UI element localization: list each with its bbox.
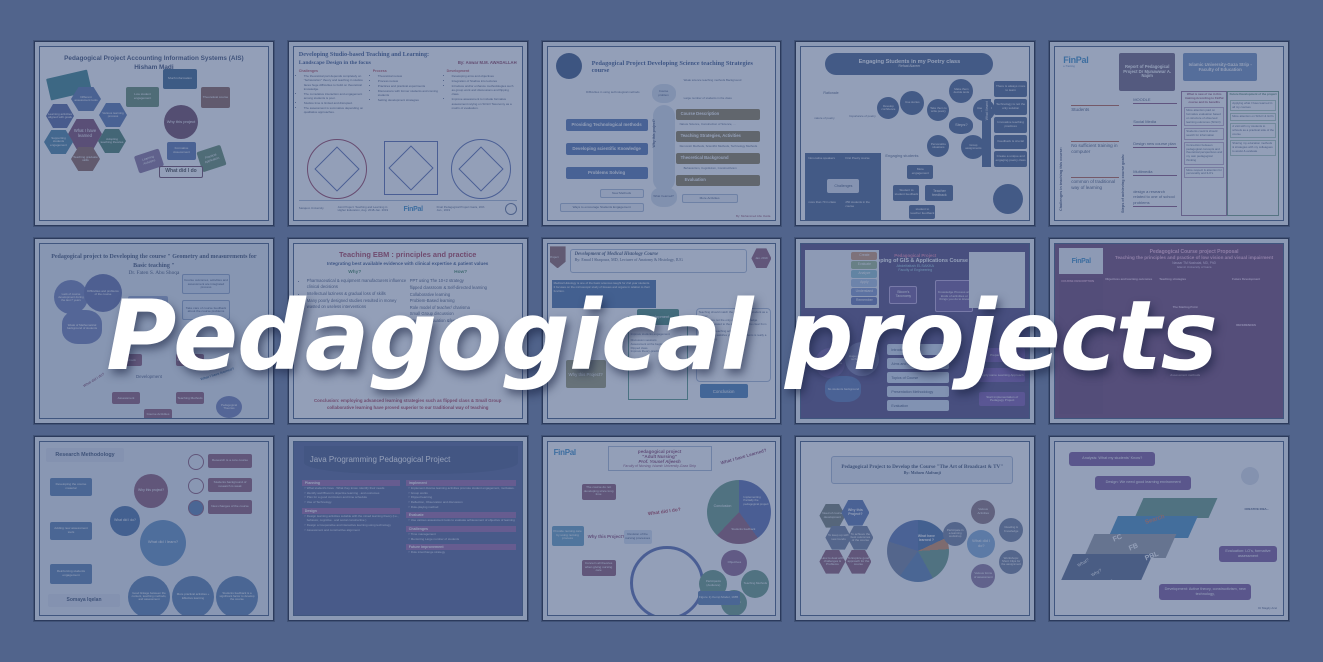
node-center: Why this project: [164, 105, 198, 139]
poster-title: Java Programming Pedagogical Project: [304, 455, 451, 464]
taxonomy-level: Evaluate: [851, 261, 877, 269]
column-item: More attention paid on formative evaluat…: [1184, 107, 1224, 126]
section-heading: Future Development: [1213, 278, 1279, 282]
list-item: Reflection, Observation and discussion: [411, 500, 516, 504]
label-engaging-students: Engaging students: [885, 153, 918, 158]
label-what-i-learned: What I have Learned?: [720, 447, 767, 466]
stack-base: [1061, 554, 1153, 580]
column-strategies: Teaching strategies The Starting Point S…: [1159, 278, 1211, 413]
section-heading: The Starting Point: [1159, 306, 1211, 310]
poster-subtitle: Landscape Design in the focus: [299, 60, 371, 66]
list-item: Discussions with former students and com…: [378, 89, 443, 98]
bubble-more-engagement: More engagement: [907, 165, 933, 179]
poster-author: By: Anwar M.M. AWADALLAH: [458, 60, 517, 65]
section-course-description: Course Description: [676, 109, 760, 120]
taxonomy-label: Bloom's Taxonomy: [889, 286, 917, 304]
why-node-1: The course do not developing since long …: [582, 484, 616, 500]
poster-affiliation: Islamic University of Gaza: [1109, 265, 1279, 269]
poster-thumbnail-ebm[interactable]: Teaching EBM : principles and practice I…: [288, 238, 528, 423]
node-assessment: Assessment: [112, 392, 140, 404]
outcome-good-linkage: Good linkage between the content, teachi…: [128, 576, 170, 616]
label-what-i-learned: What I have learned?: [200, 367, 235, 382]
note-2: Technology is not the only solution: [994, 99, 1027, 115]
bubble-make-them-decide: Make them decide texts: [949, 79, 973, 103]
how-point: Pre/post evaluation &feedback: [410, 318, 514, 324]
left-item: common of traditional way of learning: [1071, 177, 1119, 191]
poster-affiliation: Faculty of Nursing, Islamic University-G…: [611, 464, 709, 468]
section-detail: Nature Science, Construction of Science,…: [680, 123, 736, 127]
outcome-practical-activities: More practical activities + Effective le…: [172, 576, 214, 616]
outcome-students-feedback: Students feedback is a significant facto…: [216, 576, 258, 616]
hex-why-this-project: Why this Project?: [841, 500, 869, 526]
list-item-topics: Topics of Course: [887, 372, 949, 383]
poster-thumbnail-adult-nursing[interactable]: FinPal pedagogical project "Adult Nursin…: [542, 436, 782, 621]
gear-why-this-project: Why this project?: [134, 474, 168, 508]
node-pedagogical-theories: Pedagogical Theories: [216, 396, 242, 418]
node-tech-methods: Providing Technological methods: [566, 119, 648, 131]
label-what-did-i-do: What did I do?: [647, 507, 681, 518]
venn-objectives: Objectives: [721, 550, 747, 576]
figure-caption: Figure 1) Kemp Model, 1985: [698, 591, 740, 605]
block-label-obj: Obj.: [1118, 588, 1128, 597]
node-why-this-project: Why this Project?: [566, 360, 606, 388]
pie-no-background: No students background: [825, 376, 861, 402]
list-item: Developing aims and objectives: [452, 74, 517, 78]
footer-university: Sarajevo University: [299, 207, 324, 211]
section-evaluation: Evaluation: [676, 175, 760, 186]
poster-author: By: Emad I Shaqoura, MD, Lecturer of Ana…: [575, 257, 743, 262]
label-what-did-i-do: What did I do?: [83, 372, 106, 389]
list-item: Introduce and/or enhance methodologies s…: [452, 84, 517, 97]
poster-author: By: Mohsen Alafranji: [904, 470, 941, 475]
list-item: Practices and practical experiments: [378, 84, 443, 88]
poster-thumbnail-finpal-najim[interactable]: FinPal e-Training Report of Pedagogical …: [1049, 41, 1289, 226]
poster-title: Pedagogical Project Accounting Informati…: [46, 55, 262, 64]
list-item: Group works: [411, 491, 516, 495]
challenges-label: Challenges: [827, 179, 859, 193]
spine-label-why: Why this project?: [652, 119, 676, 147]
what-i-learnt-spine: What I learnt: [982, 99, 991, 167]
why-heading: Why?: [302, 270, 408, 275]
poster-subtitle: Integrating best available evidence with…: [302, 261, 514, 266]
column-challenges: Challenges The theoretical part depends …: [299, 69, 369, 115]
node-problem-solving: Problems Solving: [566, 167, 648, 179]
how-heading: How?: [408, 270, 514, 275]
footer-project: Joint Project: Teaching and Learning in …: [338, 206, 390, 214]
corner-label: Project: [550, 256, 559, 260]
node-feedback-care: Take care of course feedback about the c…: [182, 300, 230, 320]
conclusion: Conclusion: employing advanced learning …: [302, 398, 514, 411]
pie-label-feedback: Students feedback: [731, 528, 755, 532]
node-what-did-i-do: What did I do: [159, 166, 203, 178]
development-box: Development Improve students engagement …: [628, 316, 688, 400]
bubble-student-student: Student to student feedback: [893, 185, 919, 201]
list-item: Design learning activities suitable with…: [307, 514, 400, 523]
label-why-this-project: Why this Project?: [588, 534, 625, 540]
left-axis-label: Challenges in teaching this course:: [1059, 93, 1069, 211]
challenge-cell: more than 70 in class: [808, 201, 840, 205]
pie-progress: Huge progress in the technology of GIS e…: [845, 342, 879, 376]
column-development: Development Developing aims and objectiv…: [447, 69, 517, 115]
node-lack-development: Lack of course development during the la…: [54, 280, 88, 314]
note-4: Feedback is crucial: [994, 135, 1027, 149]
brand-subtitle: e-Training: [1063, 65, 1088, 68]
node-course-problem: Course problem: [652, 84, 676, 103]
list-item-presentation: Presentation Methodology: [887, 386, 949, 397]
section-heading: Assessment methods: [1159, 374, 1211, 378]
node-encourage-engagement: Ways to encourage Students Engagement: [560, 203, 644, 212]
node-formative-assessment: Formative Assessment: [167, 142, 196, 160]
bubble-develop-confidence: Develop confidence: [877, 97, 899, 119]
target-icon: [188, 454, 204, 470]
list-item: Studios time is limited and disrupted.: [304, 101, 369, 105]
column-process: Process Theoretical review Process revie…: [373, 69, 443, 115]
finpal-logo: FinPal: [1072, 258, 1091, 265]
section-detail: Behaviorism, Cognitivism, Constructivism: [684, 167, 737, 171]
why-point: Many poorly designed studies resulted in…: [307, 298, 408, 310]
bullet-list: The theoretical part depends completely …: [299, 74, 369, 115]
gallery-page: Pedagogical Project Accounting Informati…: [0, 0, 1323, 662]
taxonomy-pyramid: Create Evaluate Analyze Apply Understand…: [805, 250, 879, 308]
section-heading: Support Materials: [1159, 336, 1211, 340]
report-title-arrow: Report of Pedagogical Project Dr Munawwa…: [1119, 53, 1175, 91]
list-item: Flipped learning: [411, 495, 516, 499]
development-point: Improve theory-practice link.: [629, 350, 687, 354]
label-development: Development: [136, 374, 162, 380]
bubble-engaging-students: [993, 184, 1023, 214]
left-item: No sufficient training in computer: [1071, 141, 1119, 155]
right-item-prepare-plan: Prepare new plan: [979, 348, 1025, 362]
poster-thumbnail-addie[interactable]: Analysis: What my students' Know? Design…: [1049, 436, 1289, 621]
section-heading: REFERENCES: [1213, 324, 1279, 328]
step-assessment-tools: Adding new assessment tools: [50, 522, 92, 540]
mid-item: MOODLE: [1133, 97, 1177, 104]
taxonomy-level: Analyze: [851, 270, 877, 278]
reason-new-changes: New changes of the course: [208, 500, 252, 514]
list-item: Role interchange strategy: [411, 550, 516, 554]
pie-label-conclusion: Conclusion: [714, 504, 732, 509]
challenges-box: Non-native speakers First Poetry course …: [805, 153, 881, 221]
finpal-logo: FinPal e-Training: [1063, 55, 1088, 68]
poster-author: Dr Magdy Azel: [1258, 607, 1277, 611]
mid-item: Social Media: [1133, 119, 1177, 126]
people-icon: [188, 478, 204, 494]
left-item: Students: [1071, 105, 1119, 113]
hex-best-outcomes: To achieve the best outcomes of the cour…: [847, 526, 873, 550]
node-graduate-skills: Teaching graduate skills: [71, 147, 100, 171]
learned-pie: [707, 480, 771, 544]
hex-challenges: How to deal with challenges & Problems: [819, 550, 845, 574]
learned-box: Teaching should match the personality of…: [696, 308, 772, 382]
how-point: PPT using The 10+2 strategy: [410, 278, 514, 284]
section-heading: Teaching strategies: [1159, 278, 1211, 282]
column-item: Applying what I have learned in all my c…: [1230, 100, 1276, 112]
list-item: Mentoring Large number of students: [411, 537, 516, 541]
finpal-logo: FinPal: [554, 448, 576, 457]
right-item-learning-approach: Apply some Learning Approach: [979, 368, 1025, 382]
poster-title: Research Methodology: [46, 448, 124, 462]
why-node-2: Provide nursing care by using nursing pr…: [552, 526, 584, 546]
circle-various-activities: Various Activities: [971, 500, 995, 524]
node-teaching-theories: Adopting teaching theories: [98, 129, 126, 153]
section-theoretical-background: Theoretical Background: [676, 153, 760, 164]
step-developing-material: Developing the course material: [50, 478, 92, 496]
reason-weak-background: Students background of research is weak: [208, 478, 252, 492]
poster-thumbnail-gis[interactable]: Pedagogical Project Developing of GIS & …: [795, 238, 1035, 423]
right-item-start-implementation: Start implementation of Pedagogy Project: [979, 392, 1025, 406]
poster-title-banner: Engaging Students in my Poetry class Ref…: [825, 53, 993, 75]
poster-thumbnail-java[interactable]: Java Programming Pedagogical Project Pla…: [288, 436, 528, 621]
node-outcomes: Course outcomes, activities and assessme…: [182, 274, 230, 294]
column-item: Connection between pedagogical concepts …: [1184, 142, 1224, 165]
why-node-3: Concern all theories when giving nursing…: [582, 560, 616, 576]
intro-point: It focuses on the microscopic study of t…: [554, 286, 654, 294]
how-point: Role model of teacher/ charisma: [410, 305, 514, 311]
how-point: Small Group discussion: [410, 311, 514, 317]
pie-update-course: Update the course: [815, 348, 845, 378]
poster-title: Developing Studio-based Teaching and Lea…: [299, 51, 517, 58]
gear-what-did-i-learn: What did I learn?: [140, 520, 186, 566]
node-new-methods: New Methods: [600, 189, 644, 198]
why-point: Pharmaceutical & equipment manufacturers…: [307, 278, 408, 290]
circle-center-label: What did I do?: [967, 530, 995, 558]
poster-thumbnail-broadcast[interactable]: Pedagogical Project to Develop the Cours…: [795, 436, 1035, 621]
taxonomy-level: Apply: [851, 279, 877, 287]
note-1: There is always more to learn: [994, 81, 1027, 97]
finpal-logo: FinPal: [404, 206, 423, 213]
challenge-cell: 250 students in the course: [845, 201, 878, 209]
list-item: Implement diverse learning activities pr…: [411, 486, 516, 490]
list-item: Time management: [411, 532, 516, 536]
nursing-process-circle: [630, 546, 704, 616]
node-theoretical-course: Theoretical course: [201, 87, 230, 108]
venn-teaching-methods: Teaching Methods: [741, 570, 769, 598]
university-title: Islamic University-Gaza Strip - Faculty …: [1183, 53, 1257, 81]
spine-label: What I learnt: [985, 101, 989, 120]
learning-wheel: [887, 520, 949, 582]
taxonomy-level: Understand: [851, 288, 877, 296]
bubble-teacher-feedback: Teacher feedback: [925, 185, 953, 201]
bubble-steps: Steps?: [949, 117, 973, 134]
section-heading: COURSE DESCRIPTION: [1059, 278, 1103, 286]
poster-grid: Pedagogical Project Accounting Informati…: [34, 41, 1289, 621]
title-box: Development of Medical Histology Course …: [570, 249, 748, 273]
step-evaluation: Evaluation: LO's, formative assessment: [1219, 546, 1277, 562]
poster-thumbnail-histology[interactable]: Project Jan. 2019 Development of Medical…: [542, 238, 782, 423]
label-engagement: Engagement: [198, 338, 218, 343]
list-item: Identify well Bloom's objective learning…: [307, 491, 400, 495]
column-new-learnings: What is new of me in this training Accor…: [1181, 91, 1227, 216]
node-what-i-learned: What I have learned: [68, 119, 102, 149]
how-point: flipped classroom & Self-directed learni…: [410, 285, 514, 291]
node-course-description: Course description: [176, 354, 204, 366]
do-node: Revision of the nursing processes: [624, 530, 652, 544]
bubble-use-stories: Use stories: [900, 91, 924, 115]
column-item: More respect & attention for personality…: [1184, 167, 1224, 179]
poster-footer: Sarajevo University Joint Project: Teach…: [299, 200, 517, 216]
mid-item: Multimedia: [1133, 169, 1177, 176]
list-item: Process review: [378, 79, 443, 83]
poster-subtitle: Teaching the principles and practice of …: [1109, 255, 1279, 260]
date-badge: Jan. 2019: [751, 248, 771, 268]
bubble-student-teacher: student to teacher feedback: [909, 205, 935, 219]
hex-good-approach: To Explore good approach for the course: [845, 550, 871, 574]
section-heading: Objectives and learning outcomes: [1105, 278, 1157, 282]
finpal-panel: FinPal: [1059, 248, 1103, 274]
challenge-cell: Non-native speakers: [808, 157, 840, 161]
center-spine: [653, 105, 675, 191]
tree-root: Rationale: [823, 91, 838, 96]
note-3: Innovative teaching practices: [994, 117, 1027, 133]
taxonomy-level: Remember: [851, 297, 877, 305]
bulb-icon: [556, 53, 582, 79]
node-what-learned: What I learned?: [651, 187, 677, 207]
how-point: Problem-Based learning: [410, 298, 514, 304]
globe-icon: [188, 500, 204, 516]
step-reinforcing-engagement: Reinforcing students engagement: [50, 564, 92, 584]
bubble-personalize: Personalize situations: [927, 135, 949, 157]
title-banner: Java Programming Pedagogical Project: [304, 446, 518, 474]
list-item: The theoretical part depends completely …: [304, 74, 369, 91]
circle-workshops: Workshops: Short Clips for the assignmen…: [999, 550, 1023, 574]
bulb-icon: [1233, 460, 1267, 500]
conclusion-box: Conclusion: [700, 384, 748, 398]
column-description: COURSE DESCRIPTION: [1059, 278, 1103, 413]
poster-author: By: Mohammed Abu Owda: [736, 215, 770, 219]
node-weak-math: Weak of Mathematical background of stude…: [62, 310, 102, 344]
column-item: Students could & should search for infor…: [1184, 128, 1224, 140]
mid-item: Design new course plan: [1133, 141, 1177, 148]
learned-point: Teaching that satisfies you & your stude…: [699, 334, 769, 342]
title-box: Pedagogical Project to Develop the Cours…: [831, 456, 1013, 484]
tree-child: Importance of poetry: [843, 115, 881, 119]
poster-title: Teaching EBM : principles and practice: [302, 250, 514, 259]
node-feedback: Feedback: [116, 354, 142, 366]
list-item-aims: Aims and Objectives: [887, 358, 949, 369]
reason-core-course: Research is a core course: [208, 454, 252, 468]
poster-thumbnail-ais[interactable]: Pedagogical Project Accounting Informati…: [34, 41, 274, 226]
section-teaching-strategies: Teaching Strategies, Activities: [676, 131, 760, 142]
wheel-center-label: What have learned ?: [913, 534, 939, 543]
list-item: Use of Technology.: [307, 500, 400, 504]
list-item: Theoretical review: [378, 74, 443, 78]
list-item: Assessment and constructive alignment: [307, 528, 400, 532]
pie-label-implementing: Implementing Partially the pedagogical p…: [743, 496, 769, 507]
hex-need-development: Need of course development: [819, 504, 845, 528]
how-point: Collaborative learning: [410, 292, 514, 298]
brand-name: FinPal: [1063, 55, 1088, 65]
node-weak-background: Weak science teaching methods Background: [684, 79, 760, 83]
mid-item: design a research related to one of scho…: [1133, 189, 1177, 207]
node-much-information: Much information: [163, 69, 197, 89]
list-item: Integration of Studios into lectures: [452, 79, 517, 83]
poster-title: Pedagogical Project Developing Science t…: [592, 60, 766, 74]
column-item: Sharing my education methods & strategie…: [1230, 140, 1276, 155]
stack-top: [1135, 498, 1218, 518]
node-low-engagement: Low student engagement: [126, 87, 159, 107]
poster-author: Somaya Iqelan: [48, 594, 120, 607]
column-item: More attention on SOLO & ILO's: [1230, 113, 1276, 121]
development-label: Development: [637, 309, 679, 325]
note-5: Create a unique and engaging poetry clas…: [994, 151, 1027, 167]
taxonomy-level: Create: [851, 252, 877, 260]
list-item: What student's have . What they know. id…: [307, 486, 400, 490]
node-learning-process: Various learning process: [99, 103, 127, 127]
column-future-development: Future Development of the project Applyi…: [1227, 91, 1279, 216]
list-item: The cumulative interaction and engagemen…: [304, 92, 369, 101]
list-item: Design a Cooperative and interactive lea…: [307, 523, 400, 527]
poster-author: Refaat Alareer: [899, 65, 921, 69]
column-objectives: Objectives and learning outcomes: [1105, 278, 1157, 413]
circle-reading: Reading & Knowledge: [999, 518, 1023, 542]
node-scientific-knowledge: Developing scientific Knowledge: [566, 143, 648, 155]
node-more-activities: More Activities: [682, 194, 738, 203]
circle-participate: Participate in e-learning workshop: [943, 522, 967, 546]
list-item: Use various assessment tools to evaluate…: [411, 518, 516, 522]
node-difficulties: Difficulties and problems of the course: [84, 274, 122, 312]
node-course-activities: Course Activities: [144, 409, 172, 418]
title-box: pedagogical project "Adult Nursing" Prof…: [608, 446, 712, 471]
node-difficulties: Difficulties in using technological meth…: [572, 91, 640, 95]
why-point: Intellectual laziness & gradual loss of …: [307, 291, 408, 297]
column-heading: Future Development of the project: [1228, 92, 1278, 98]
poster-thumbnail-science[interactable]: Pedagogical Project Developing Science t…: [542, 41, 782, 226]
knowledge-note: Knowledge Process are kinds of activitie…: [935, 280, 973, 312]
bubble-take-them: Take them to write poetry: [927, 99, 949, 121]
step-design: Design: We need good learning environmen…: [1095, 476, 1191, 490]
list-item-introduction: Introduction: [887, 344, 949, 355]
poster-title: Pedagogical project to Developing the co…: [46, 253, 262, 270]
column-item: A visit with my students to schools as a…: [1230, 123, 1276, 138]
bulb-label: CREATIVE IDEA...: [1244, 508, 1269, 512]
poster-thumbnail-research[interactable]: Research Methodology Developing the cour…: [34, 436, 274, 621]
diagram-area: [299, 139, 517, 199]
list-item: The assessment is summative depending on…: [304, 106, 369, 115]
challenge-cell: First Poetry course: [845, 157, 878, 161]
node-large-class: Large number of students in the class: [684, 97, 760, 101]
intro-box: Medical Histology is one of the basic sc…: [552, 280, 656, 308]
list-item: Improve assessment to include formative …: [452, 97, 517, 110]
poster-thumbnail-poetry[interactable]: Engaging Students in my Poetry class Ref…: [795, 41, 1035, 226]
node-why-this: Why this: [128, 296, 168, 310]
column-heading: Challenges: [299, 69, 369, 73]
bullet-list: Developing aims and objectives Integrati…: [447, 74, 517, 110]
list-item-evaluation: Evaluation: [887, 400, 949, 411]
list-item: Plan for a good curriculum and time sche…: [307, 495, 400, 499]
seal-icon: [505, 203, 517, 215]
tree-child: nature of poetry: [805, 117, 843, 121]
footer-note: Final Pedagogical Project Gaza, 20th Jan…: [437, 206, 491, 214]
column-heading: Development: [447, 69, 517, 73]
quadrant-chart: [969, 252, 1025, 308]
column-future: Future Development REFERENCES: [1213, 278, 1279, 413]
node-teaching-methods: Teaching Methods: [176, 392, 204, 404]
circle-assessment: Various forms of assessment: [971, 564, 995, 588]
step-analysis: Analysis: What my students' Know?: [1069, 452, 1155, 466]
poster-thumbnail-geometry[interactable]: Pedagogical project to Developing the co…: [34, 238, 274, 423]
mid-axis-label: Steps of achieving course goals:: [1121, 107, 1131, 213]
list-item: Role-playing method: [411, 505, 516, 509]
column-heading: Process: [373, 69, 443, 73]
list-item: Setting development strategies: [378, 98, 443, 102]
gear-what-did-i-do: What did I do?: [110, 506, 140, 536]
section-detail: Demonstr Methods, Scientific Methods, Te…: [680, 145, 758, 149]
poster-thumbnail-studio[interactable]: Developing Studio-based Teaching and Lea…: [288, 41, 528, 226]
column-heading: What is new of me in this training Accor…: [1182, 92, 1226, 105]
node-learning-activities: Learning activities aligned with goals: [46, 104, 74, 128]
step-development: Development: Active theory, constructivi…: [1159, 584, 1251, 600]
poster-thumbnail-lowvision[interactable]: FinPal Pedagogical Course project Propos…: [1049, 238, 1289, 423]
